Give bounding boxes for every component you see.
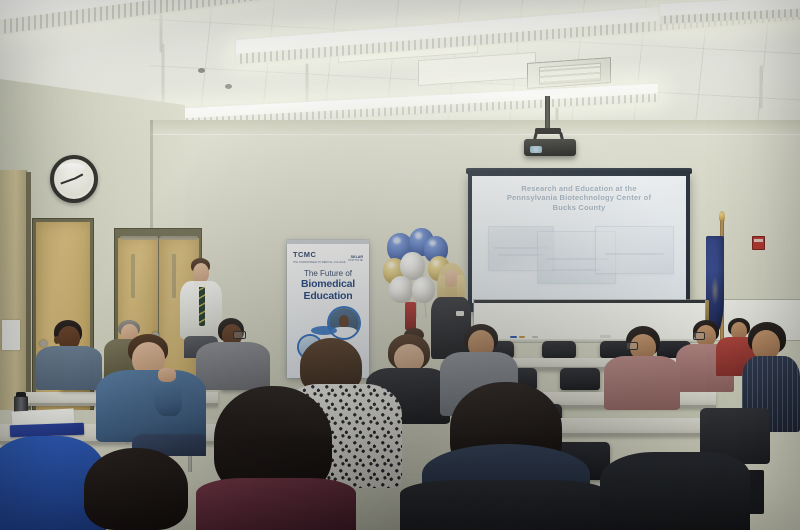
marker-icon[interactable]	[519, 336, 525, 338]
wall-soffit	[150, 120, 800, 134]
audience-member-foreground	[600, 446, 750, 530]
audience-member-foreground	[74, 448, 198, 530]
collar	[194, 281, 209, 287]
projector-mount-bracket	[535, 128, 561, 134]
torso-blue-sweater	[96, 370, 206, 442]
banner-logo-row: TCMC THE COMMONWEALTH MEDICAL COLLEGE SK…	[293, 251, 363, 267]
tcmc-logo: TCMC THE COMMONWEALTH MEDICAL COLLEGE	[293, 251, 346, 267]
banner-headline-3: Education	[287, 290, 369, 302]
torso-rose-top	[604, 356, 680, 410]
banner-top-bar	[287, 240, 369, 244]
hand	[158, 368, 176, 382]
banner-headline-1: The Future of	[287, 269, 369, 278]
audience-member	[36, 320, 102, 390]
ceiling-projector	[524, 139, 576, 156]
eyeglasses	[233, 331, 246, 339]
banner-headline-2: Biomedical	[287, 278, 369, 290]
balloon-white	[389, 276, 413, 303]
light-suspension-rod	[760, 66, 762, 108]
door-vent-strip	[131, 254, 135, 298]
marker-icon[interactable]	[532, 336, 538, 338]
wall-clock	[50, 155, 98, 203]
banner-swoosh-icon	[311, 326, 337, 335]
projector-mount-pole	[545, 96, 550, 132]
slide-title: Research and Education at the Pennsylvan…	[487, 184, 671, 213]
head	[193, 263, 209, 283]
audience-member	[604, 326, 680, 410]
door-closer-bar	[160, 236, 198, 240]
torso-dark-coat	[600, 452, 750, 530]
projection-screen: Research and Education at the Pennsylvan…	[468, 172, 690, 312]
hair	[84, 448, 188, 530]
name-badge	[456, 311, 464, 316]
slide-photo-3	[596, 227, 673, 273]
eyeglasses	[693, 332, 705, 340]
audience-member-foreground	[196, 386, 356, 530]
balloon-weight	[405, 302, 416, 330]
whiteboard-top-rail	[474, 300, 706, 303]
torso-maroon-sweater	[196, 478, 356, 530]
door-vent-strip	[172, 254, 176, 298]
sprinkler-icon	[225, 84, 232, 89]
audience-member-foreground	[400, 382, 610, 530]
sprinkler-icon	[198, 68, 205, 73]
presentation-slide: Research and Education at the Pennsylvan…	[472, 176, 686, 303]
wall-column	[0, 170, 26, 410]
empty-chair[interactable]	[542, 341, 576, 358]
photo-scene: Research and Education at the Pennsylvan…	[0, 0, 800, 530]
torso-gray-suit	[196, 342, 270, 390]
torso-dark-jacket	[400, 480, 610, 530]
door-jamb-left	[26, 172, 31, 410]
face	[444, 270, 458, 287]
eyeglasses	[626, 342, 638, 350]
wall-notice-sign	[2, 320, 20, 350]
sklar-institute-logo: SKLAR INSTITUTE	[348, 255, 363, 263]
door-closer-bar	[120, 236, 158, 240]
ear	[54, 336, 60, 344]
fire-alarm-pull-station[interactable]	[752, 236, 765, 250]
audience-member	[196, 318, 270, 390]
torso-steel-shirt	[36, 346, 102, 390]
audience-member	[96, 334, 206, 456]
